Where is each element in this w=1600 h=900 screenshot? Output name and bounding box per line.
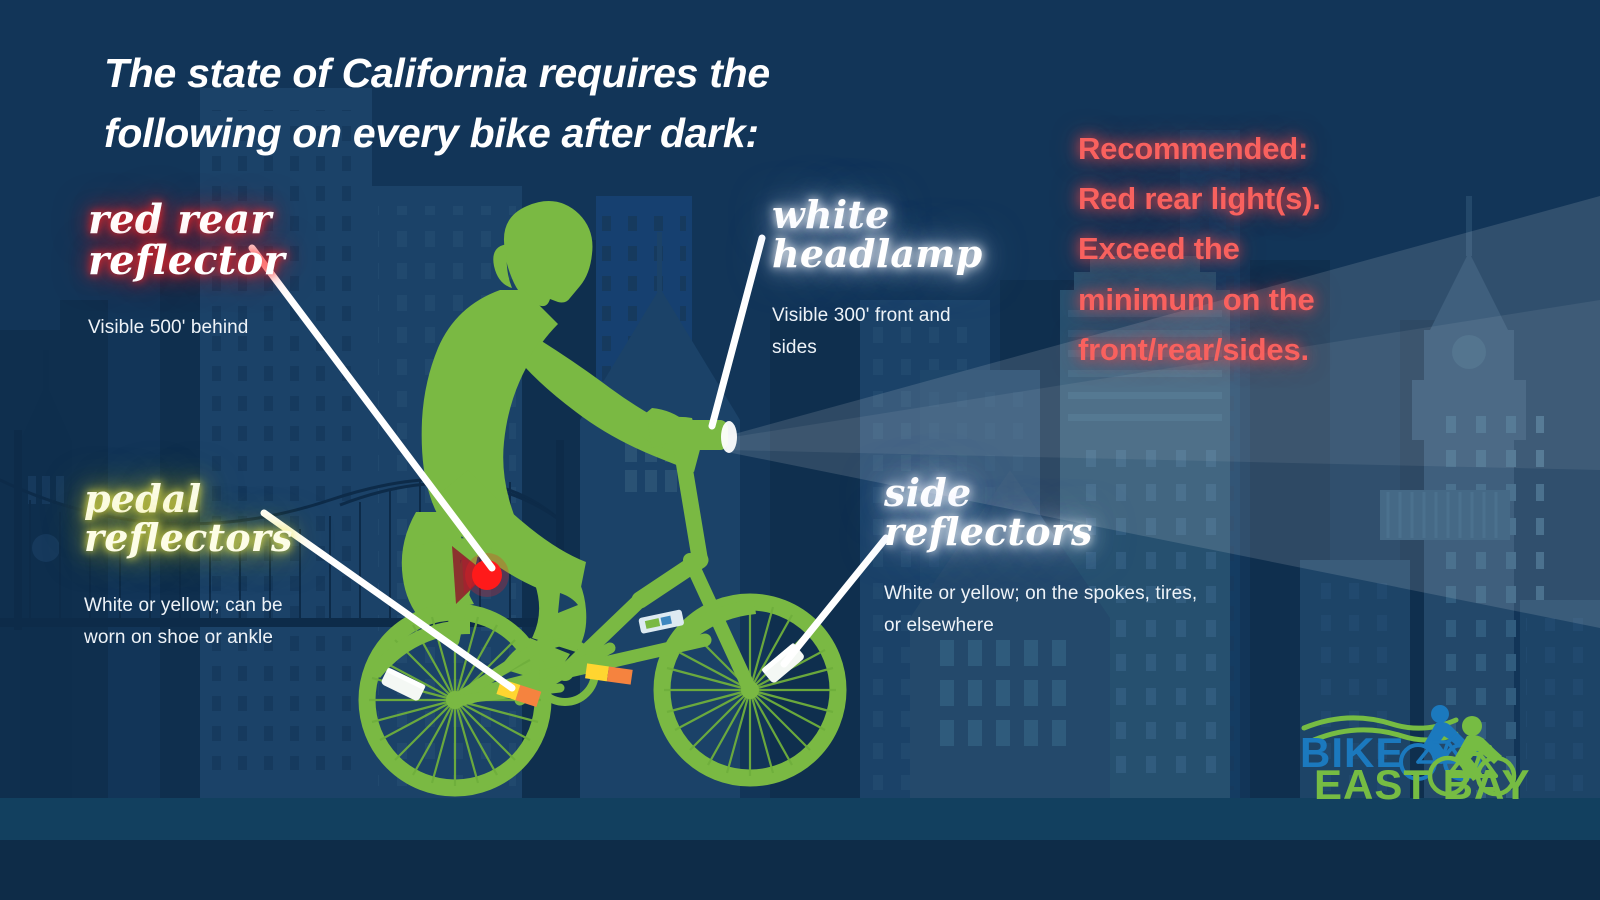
callout-title-white-headlamp: white headlamp (772, 196, 1042, 274)
callout-title-line-1: white (772, 196, 1042, 235)
recommended-line-5: front/rear/sides. (1078, 325, 1448, 375)
callout-title-pedal-reflectors: pedal reflectors (84, 480, 404, 558)
recommended-callout: Recommended: Red rear light(s). Exceed t… (1078, 124, 1448, 375)
callout-sub-line-2: worn on shoe or ankle (84, 622, 404, 655)
callout-sub-white-headlamp: Visible 300' front and sides (772, 300, 1042, 365)
callout-title-line-1: pedal (84, 480, 404, 519)
callout-title-line-1: red rear (88, 200, 388, 241)
callout-title-side-reflectors: side reflectors (884, 474, 1284, 552)
recommended-line-3: Exceed the (1078, 224, 1448, 274)
callout-title-line-2: reflectors (84, 519, 404, 558)
recommended-line-2: Red rear light(s). (1078, 174, 1448, 224)
callout-white-headlamp: white headlamp Visible 300' front and si… (772, 196, 1042, 365)
callout-pedal-reflectors: pedal reflectors White or yellow; can be… (84, 480, 404, 655)
callout-title-line-2: reflectors (884, 513, 1284, 552)
callout-side-reflectors: side reflectors White or yellow; on the … (884, 474, 1284, 643)
callout-sub-red-rear-reflector: Visible 500' behind (88, 312, 388, 345)
callout-sub-line-1: White or yellow; can be (84, 590, 404, 623)
logo-word-east-bay: EAST BAY (1314, 764, 1531, 806)
callout-title-line-2: headlamp (772, 235, 1042, 274)
recommended-line-1: Recommended: (1078, 124, 1448, 174)
infographic-canvas: The state of California requires the fol… (0, 0, 1600, 900)
callout-sub-line-2: sides (772, 332, 1042, 365)
headline-line-2: following on every bike after dark: (104, 104, 964, 164)
callout-sub-line-1: White or yellow; on the spokes, tires, (884, 578, 1284, 611)
headline-line-1: The state of California requires the (104, 44, 964, 104)
callout-sub-pedal-reflectors: White or yellow; can be worn on shoe or … (84, 590, 404, 655)
callout-title-red-rear-reflector: red rear reflector (88, 200, 388, 282)
leader-line-headlamp (712, 238, 762, 426)
recommended-line-4: minimum on the (1078, 275, 1448, 325)
callout-title-line-1: side (884, 474, 1284, 513)
leader-line-side-reflectors (784, 538, 886, 664)
page-headline: The state of California requires the fol… (104, 44, 964, 164)
callout-red-rear-reflector: red rear reflector Visible 500' behind (88, 200, 388, 344)
callout-sub-line-1: Visible 300' front and (772, 300, 1042, 333)
callout-sub-side-reflectors: White or yellow; on the spokes, tires, o… (884, 578, 1284, 643)
bike-east-bay-logo[interactable]: BIKE EAST BAY (1296, 690, 1536, 798)
callout-title-line-2: reflector (88, 241, 388, 282)
callout-sub-line-2: or elsewhere (884, 610, 1284, 643)
callout-sub-line-1: Visible 500' behind (88, 312, 388, 345)
